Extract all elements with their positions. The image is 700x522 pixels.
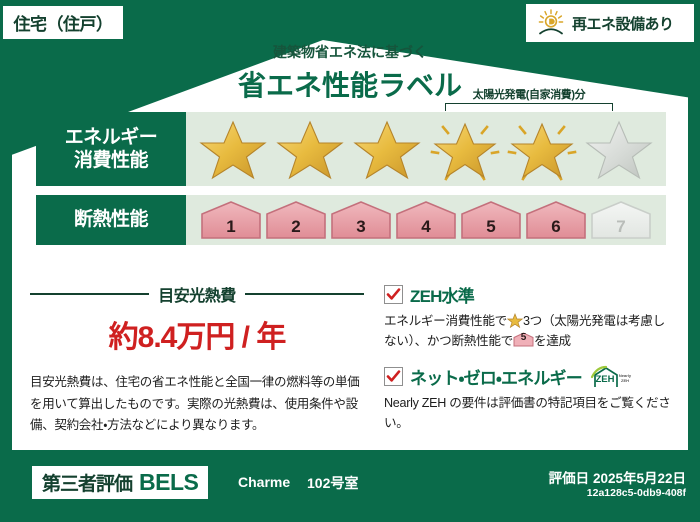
third-party-label: 第三者評価 bbox=[42, 469, 132, 496]
heading-rule-left bbox=[30, 293, 149, 295]
energy-label-line1: エネルギー bbox=[65, 126, 158, 149]
svg-text:ZEH: ZEH bbox=[595, 374, 614, 385]
grade-value: 4 bbox=[421, 217, 430, 237]
zeh-body-part1: エネルギー消費性能で bbox=[384, 314, 507, 328]
housing-type-label: 住宅（住戸） bbox=[14, 10, 113, 35]
energy-label-line2: 消費性能 bbox=[74, 149, 148, 172]
building-name: Charme bbox=[238, 474, 290, 490]
star-rating-area bbox=[186, 112, 666, 186]
grade-badge-3: 3 bbox=[330, 200, 392, 240]
bels-certification-box: 第三者評価 BELS bbox=[32, 466, 208, 499]
zeh-column: ZEH水準 エネルギー消費性能で 3つ（太陽光発電は考慮しない）、かつ断熱性能で… bbox=[376, 282, 674, 447]
energy-performance-label: 住宅（住戸） 再エネ設備あり 建築物省エネ法に基づく bbox=[0, 0, 700, 522]
lower-content-area: 目安光熱費 約8.4万円 / 年 目安光熱費は、住宅の省エネ性能と全国一律の燃料… bbox=[30, 282, 674, 447]
insulation-performance-row: 断熱性能 1 bbox=[36, 195, 666, 245]
utility-cost-description-text: 目安光熱費は、住宅の省エネ性能と全国一律の燃料等の単価を用いて算出したものです。… bbox=[30, 372, 364, 437]
solar-annotation: 太陽光発電(自家消費)分 bbox=[445, 86, 613, 111]
sun-icon bbox=[536, 8, 566, 38]
utility-cost-value: 約8.4万円 / 年 bbox=[30, 312, 364, 356]
unit-number: 102号室 bbox=[307, 473, 358, 493]
inline-grade-value: 5 bbox=[513, 332, 534, 347]
utility-cost-description: 目安光熱費は、住宅の省エネ性能と全国一律の燃料等の単価を用いて算出したものです。… bbox=[30, 372, 364, 437]
zeh-body-star-count: 3つ bbox=[523, 314, 542, 328]
star-5-solar bbox=[505, 115, 579, 183]
grade-badge-7: 7 bbox=[590, 200, 652, 240]
solar-annotation-text: 太陽光発電(自家消費)分 bbox=[445, 86, 613, 102]
performance-block: エネルギー 消費性能 bbox=[36, 112, 666, 254]
inline-grade-badge: 5 bbox=[513, 332, 534, 347]
heading-rule-right bbox=[245, 293, 364, 295]
grade-value: 1 bbox=[226, 217, 235, 237]
zeh-netzero-body: Nearly ZEH の要件は評価書の特記項目をご覧ください。 bbox=[384, 393, 674, 433]
renewable-badge-label: 再エネ設備あり bbox=[572, 13, 674, 34]
star-2 bbox=[273, 115, 347, 183]
utility-cost-column: 目安光熱費 約8.4万円 / 年 目安光熱費は、住宅の省エネ性能と全国一律の燃料… bbox=[30, 282, 376, 447]
solar-annotation-bracket bbox=[445, 103, 613, 111]
grade-badge-5: 5 bbox=[460, 200, 522, 240]
zeh-netzero-title: ネット・ゼロ・エネルギー bbox=[410, 364, 582, 389]
star-6-empty bbox=[582, 115, 656, 183]
zeh-netzero-block: ネット・ゼロ・エネルギー ZEH Nearly ZEH Nearly ZEH の… bbox=[384, 364, 674, 433]
star-1 bbox=[196, 115, 270, 183]
energy-performance-label: エネルギー 消費性能 bbox=[36, 112, 186, 186]
insulation-label-line1: 断熱性能 bbox=[74, 208, 148, 231]
zeh-standard-title: ZEH水準 bbox=[410, 282, 474, 307]
housing-type-tag: 住宅（住戸） bbox=[3, 6, 123, 39]
grade-badge-2: 2 bbox=[265, 200, 327, 240]
evaluation-date-label: 評価日 bbox=[549, 471, 590, 486]
svg-text:ZEH: ZEH bbox=[621, 378, 629, 383]
bels-logo-text: BELS bbox=[139, 469, 198, 496]
grade-value: 2 bbox=[291, 217, 300, 237]
star-4-solar bbox=[428, 115, 502, 183]
inline-star-icon bbox=[507, 313, 523, 328]
zeh-standard-body: エネルギー消費性能で 3つ（太陽光発電は考慮しない）、かつ断熱性能で 5 を達成 bbox=[384, 311, 674, 351]
grade-value: 7 bbox=[616, 217, 625, 237]
evaluation-id: 12a128c5-0db9-408f bbox=[587, 487, 686, 499]
evaluation-date: 評価日 2025年5月22日 bbox=[549, 467, 686, 487]
renewable-energy-badge: 再エネ設備あり bbox=[526, 4, 694, 42]
zeh-standard-header: ZEH水準 bbox=[384, 282, 674, 307]
checkmark-icon bbox=[384, 285, 403, 304]
zeh-body-part3: を達成 bbox=[534, 334, 571, 348]
evaluation-date-value: 2025年5月22日 bbox=[593, 471, 686, 486]
zeh-netzero-header: ネット・ゼロ・エネルギー ZEH Nearly ZEH bbox=[384, 364, 674, 389]
star-3 bbox=[350, 115, 424, 183]
insulation-grade-area: 1 2 3 bbox=[186, 195, 666, 245]
checkmark-icon bbox=[384, 367, 403, 386]
law-subtitle: 建築物省エネ法に基づく bbox=[0, 42, 700, 62]
grade-badge-6: 6 bbox=[525, 200, 587, 240]
energy-performance-row: エネルギー 消費性能 bbox=[36, 112, 666, 186]
grade-value: 3 bbox=[356, 217, 365, 237]
grade-value: 5 bbox=[486, 217, 495, 237]
insulation-performance-label: 断熱性能 bbox=[36, 195, 186, 245]
zeh-logo-icon: ZEH Nearly ZEH bbox=[589, 365, 633, 389]
grade-badge-1: 1 bbox=[200, 200, 262, 240]
zeh-standard-block: ZEH水準 エネルギー消費性能で 3つ（太陽光発電は考慮しない）、かつ断熱性能で… bbox=[384, 282, 674, 351]
grade-badge-4: 4 bbox=[395, 200, 457, 240]
grade-value: 6 bbox=[551, 217, 560, 237]
utility-cost-caption: 目安光熱費 bbox=[158, 282, 236, 306]
utility-cost-heading: 目安光熱費 bbox=[30, 282, 364, 306]
footer: 第三者評価 BELS Charme 102号室 評価日 2025年5月22日 1… bbox=[0, 456, 700, 522]
